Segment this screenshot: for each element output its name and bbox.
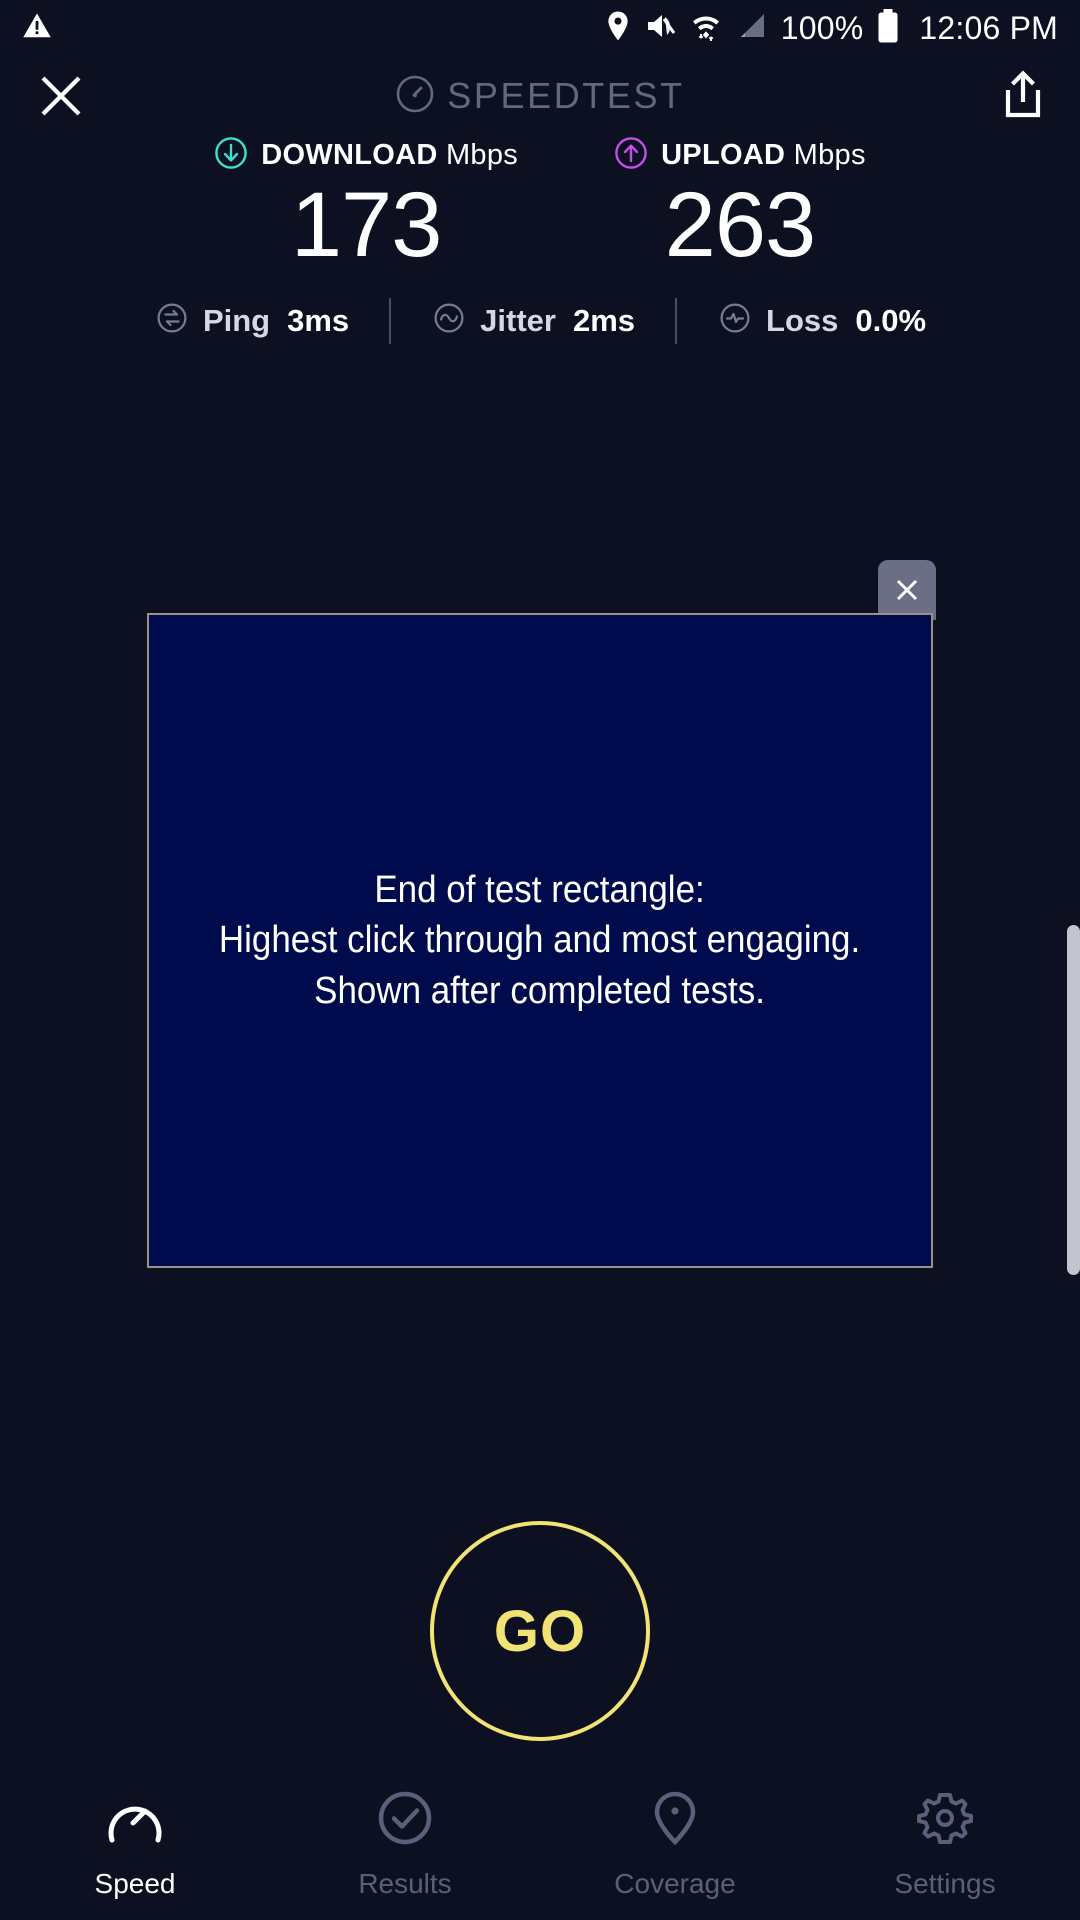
vertical-scrollbar[interactable] (1067, 925, 1080, 1275)
close-icon (892, 575, 922, 605)
upload-label: UPLOAD Mbps (661, 139, 866, 172)
map-pin-icon (645, 1790, 705, 1851)
status-bar-left (22, 11, 52, 46)
loss-pulse-icon (717, 300, 753, 341)
nav-item-results[interactable]: Results (270, 1790, 540, 1900)
volume-muted-icon (645, 12, 677, 45)
warning-triangle-icon (22, 11, 52, 46)
bottom-navigation-bar: Speed Results Coverage (0, 1770, 1080, 1920)
loss-stat: Loss 0.0% (717, 300, 926, 341)
upload-header: UPLOAD Mbps (614, 136, 866, 175)
ad-text: End of test rectangle: Highest click thr… (219, 865, 860, 1017)
jitter-value: 2ms (573, 303, 635, 339)
speedometer-icon (395, 74, 435, 119)
nav-item-speed[interactable]: Speed (0, 1790, 270, 1900)
ad-banner[interactable]: End of test rectangle: Highest click thr… (147, 613, 933, 1268)
nav-label-coverage: Coverage (614, 1868, 735, 1900)
ping-stat: Ping 3ms (154, 300, 349, 341)
wifi-icon (691, 10, 721, 47)
download-label: DOWNLOAD Mbps (261, 139, 518, 172)
ping-value: 3ms (287, 303, 349, 339)
speedtest-app-screen: 100% 12:06 PM SP (0, 0, 1080, 1920)
gear-icon (915, 1790, 975, 1851)
download-upload-row: DOWNLOAD Mbps 173 UPLOAD Mbps 263 (0, 136, 1080, 274)
speedometer-icon (105, 1790, 165, 1851)
results-panel: DOWNLOAD Mbps 173 UPLOAD Mbps 263 (0, 136, 1080, 344)
ad-close-button[interactable] (878, 560, 936, 620)
nav-label-results: Results (358, 1868, 451, 1900)
ping-label: Ping (203, 303, 270, 339)
cellular-signal-icon (735, 12, 767, 45)
loss-value: 0.0% (855, 303, 926, 339)
nav-label-speed: Speed (95, 1868, 176, 1900)
ping-arrows-icon (154, 300, 190, 341)
stat-divider (389, 298, 391, 344)
ad-text-line-3: Shown after completed tests. (219, 966, 860, 1017)
upload-arrow-icon (614, 136, 648, 175)
battery-percent-label: 100% (781, 10, 864, 47)
jitter-label: Jitter (480, 303, 556, 339)
ad-text-line-2: Highest click through and most engaging. (219, 915, 860, 966)
go-button-label: GO (494, 1598, 586, 1665)
battery-full-icon (877, 9, 899, 48)
close-button[interactable] (34, 69, 88, 123)
share-button[interactable] (1000, 70, 1046, 122)
ad-text-line-1: End of test rectangle: (219, 865, 860, 916)
brand-label: SPEEDTEST (447, 75, 684, 117)
download-value: 173 (291, 177, 442, 274)
status-bar-right: 100% 12:06 PM (605, 9, 1058, 48)
jitter-stat: Jitter 2ms (431, 300, 635, 341)
nav-item-settings[interactable]: Settings (810, 1790, 1080, 1900)
status-bar: 100% 12:06 PM (0, 0, 1080, 56)
download-metric: DOWNLOAD Mbps 173 (214, 136, 518, 274)
download-arrow-icon (214, 136, 248, 175)
nav-label-settings: Settings (894, 1868, 995, 1900)
upload-value: 263 (665, 177, 816, 274)
stat-divider (675, 298, 677, 344)
loss-label: Loss (766, 303, 838, 339)
upload-metric: UPLOAD Mbps 263 (614, 136, 866, 274)
ping-jitter-loss-row: Ping 3ms Jitter 2ms (0, 298, 1080, 344)
brand-title: SPEEDTEST (0, 74, 1080, 119)
app-header: SPEEDTEST (0, 56, 1080, 136)
location-pin-icon (605, 11, 631, 46)
download-header: DOWNLOAD Mbps (214, 136, 518, 175)
go-button[interactable]: GO (430, 1521, 650, 1741)
status-bar-clock: 12:06 PM (919, 10, 1058, 47)
jitter-wave-icon (431, 300, 467, 341)
check-circle-icon (375, 1790, 435, 1851)
nav-item-coverage[interactable]: Coverage (540, 1790, 810, 1900)
